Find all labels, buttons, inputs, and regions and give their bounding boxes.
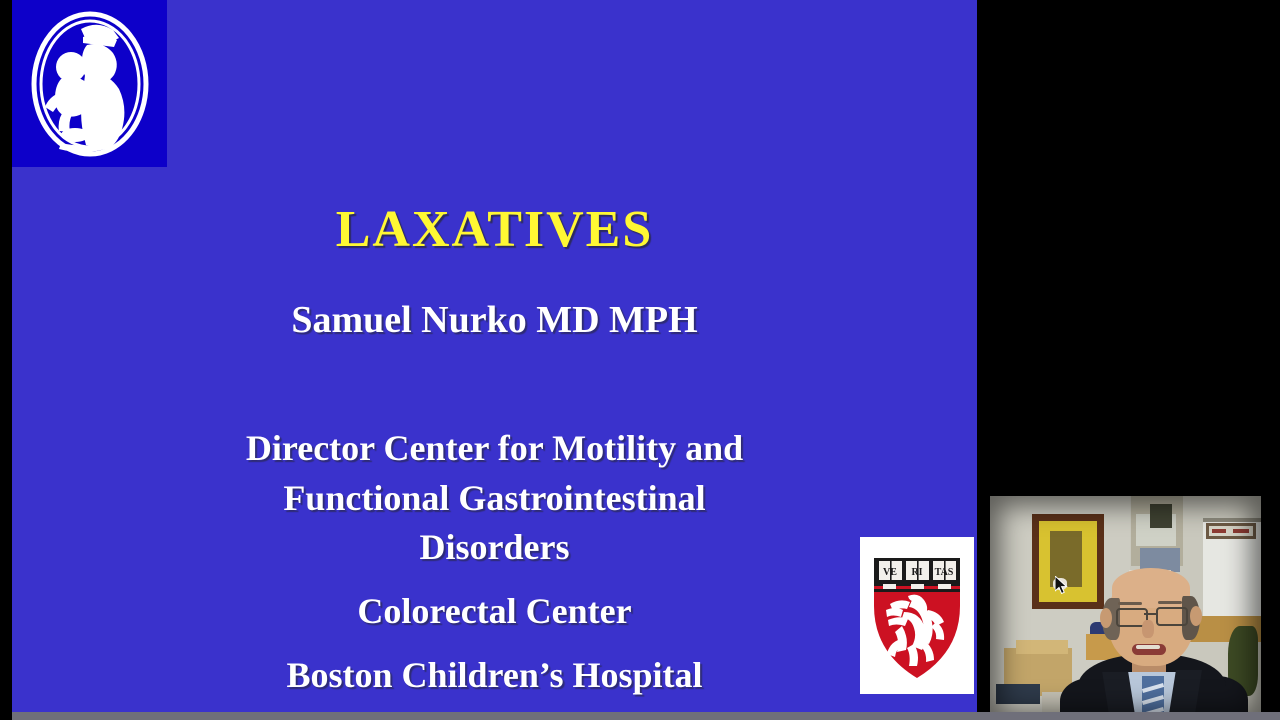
mouse-pointer-icon xyxy=(1055,576,1068,595)
video-player-screen: LAXATIVES Samuel Nurko MD MPH Director C… xyxy=(0,0,1280,720)
wall-sign-text xyxy=(1233,529,1249,533)
presenter-eyebrow xyxy=(1118,602,1142,605)
eyeglasses-bridge xyxy=(1144,613,1156,615)
shield-book-text-2: RI xyxy=(911,567,922,578)
wall-sign-text xyxy=(1212,529,1226,533)
boston-childrens-hospital-seal xyxy=(12,0,167,167)
affiliation-line: Disorders xyxy=(12,523,977,573)
harvard-medical-school-shield: VE RI TAS xyxy=(860,537,974,694)
shelf-dark-object xyxy=(1150,504,1172,528)
webcam-scene xyxy=(990,496,1261,720)
presentation-slide: LAXATIVES Samuel Nurko MD MPH Director C… xyxy=(12,0,977,712)
hospital-seal-icon xyxy=(25,9,155,159)
player-bottom-bar-left-pad xyxy=(0,712,12,720)
player-bottom-bar[interactable] xyxy=(0,712,1280,720)
slide-affiliation-block: Director Center for Motility and Functio… xyxy=(12,424,977,700)
affiliation-line: Director Center for Motility and xyxy=(12,424,977,474)
affiliation-line: Colorectal Center xyxy=(12,587,977,637)
affiliation-line: Boston Children’s Hospital xyxy=(12,651,977,701)
presenter-ear xyxy=(1190,606,1202,626)
presenter-ear xyxy=(1100,608,1112,628)
presenter-video-feed[interactable] xyxy=(990,496,1261,720)
slide-author: Samuel Nurko MD MPH xyxy=(12,301,977,339)
slide-title: LAXATIVES xyxy=(12,204,977,256)
eyeglasses-icon xyxy=(1156,607,1188,626)
affiliation-line: Functional Gastrointestinal xyxy=(12,474,977,524)
presenter-eyebrow xyxy=(1158,601,1182,604)
whiteboard-frame xyxy=(1203,518,1261,522)
shield-book-text-3: TAS xyxy=(935,567,954,578)
harvard-shield-icon: VE RI TAS xyxy=(868,548,966,684)
presenter-teeth xyxy=(1136,645,1160,649)
shield-book-text-1: VE xyxy=(883,567,897,578)
desk-clutter xyxy=(996,684,1040,704)
presenter-nose xyxy=(1142,620,1154,638)
cardboard-box-lid xyxy=(1016,640,1068,654)
